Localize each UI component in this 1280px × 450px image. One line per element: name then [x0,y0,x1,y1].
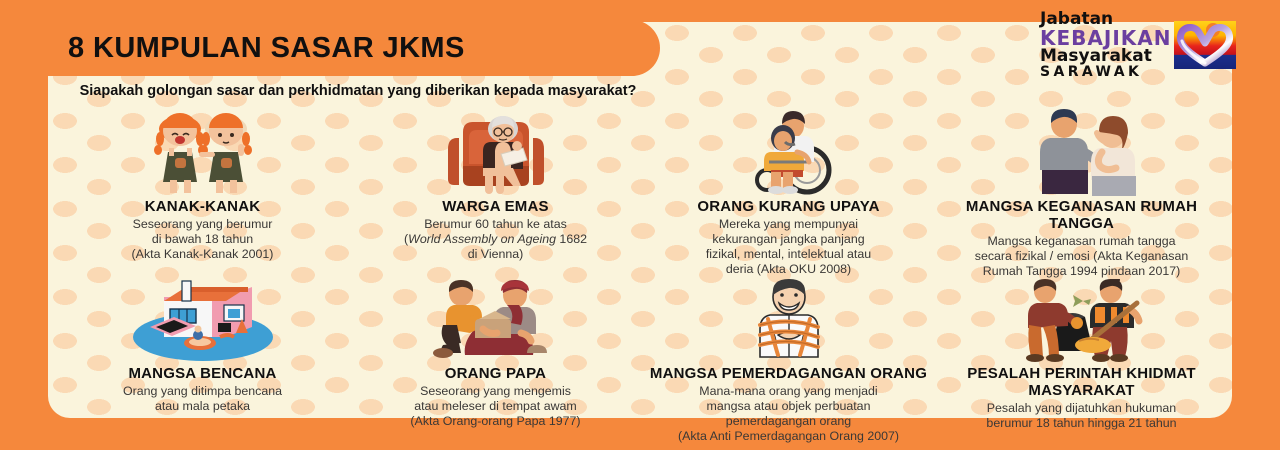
card-mangsa-keganasan-rumah-tangga: MANGSA KEGANASAN RUMAH TANGGA Mangsa keg… [935,108,1228,279]
desc-line: Pesalah yang dijatuhkan hukuman [986,401,1176,416]
desc-year: 1682 [556,232,587,246]
card-description: Seseorang yang mengemis atau meleser di … [410,384,580,429]
desc-line: Mana-mana orang yang menjadi [678,384,899,399]
desc-line: Orang yang ditimpa bencana [123,384,282,399]
card-description: Mangsa keganasan rumah tangga secara fiz… [975,234,1189,279]
infographic-poster: 8 KUMPULAN SASAR JKMS Jabatan KEBAJIKAN … [0,0,1280,450]
flooded-house-icon [128,279,278,363]
page-subtitle: Siapakah golongan sasar dan perkhidmatan… [68,82,648,102]
card-title: WARGA EMAS [442,199,548,216]
desc-line: di Vienna) [404,247,587,262]
card-kanak-kanak: KANAK-KANAK Seseorang yang berumur di ba… [56,108,349,279]
desc-line: atau meleser di tempat awam [410,399,580,414]
desc-line: secara fizikal / emosi (Akta Keganasan [975,249,1189,264]
card-description: Mana-mana orang yang menjadi mangsa atau… [678,384,899,445]
card-description: Seseorang yang berumur di bawah 18 tahun… [132,217,274,262]
logo-line-kebajikan: KEBAJIKAN [1040,28,1171,48]
desc-line: Berumur 60 tahun ke atas [404,217,587,232]
logo-wordmark: Jabatan KEBAJIKAN Masyarakat SARAWAK [1040,11,1174,79]
elderly-in-armchair-icon [441,108,551,196]
title-banner: 8 KUMPULAN SASAR JKMS [0,20,660,76]
desc-line: mangsa atau objek perbuatan [678,399,899,414]
card-mangsa-pemerdagangan-orang: MANGSA PEMERDAGANGAN ORANG Mana-mana ora… [642,279,935,444]
card-orang-kurang-upaya: ORANG KURANG UPAYA Mereka yang mempunyai… [642,108,935,279]
desc-line: fizikal, mental, intelektual atau [706,247,871,262]
card-title: MANGSA PEMERDAGANGAN ORANG [650,366,927,383]
card-description: Mereka yang mempunyai kekurangan jangka … [706,217,871,278]
card-pesalah-perintah-khidmat-masyarakat: PESALAH PERINTAH KHIDMAT MASYARAKAT Pesa… [935,279,1228,444]
jkms-logo: Jabatan KEBAJIKAN Masyarakat SARAWAK [1040,12,1258,78]
desc-line: Rumah Tangga 1994 pindaan 2017) [975,264,1189,279]
page-title: 8 KUMPULAN SASAR JKMS [68,32,465,65]
logo-line-masyarakat: Masyarakat [1040,48,1171,65]
desc-line: Seseorang yang berumur [132,217,274,232]
community-service-cleanup-icon [1007,279,1157,363]
card-mangsa-bencana: MANGSA BENCANA Orang yang ditimpa bencan… [56,279,349,444]
heart-emblem-icon [1172,17,1238,73]
desc-line: kekurangan jangka panjang [706,232,871,247]
card-title: PESALAH PERINTAH KHIDMAT MASYARAKAT [941,366,1222,400]
desc-line: (World Assembly on Ageing 1682 [404,232,587,247]
card-title: MANGSA KEGANASAN RUMAH TANGGA [941,199,1222,233]
desc-line: (Akta Orang-orang Papa 1977) [410,414,580,429]
desc-line: Mereka yang mempunyai [706,217,871,232]
giving-to-homeless-icon [421,279,571,363]
desc-line: (Akta Kanak-Kanak 2001) [132,247,274,262]
bound-person-icon [734,279,844,363]
domestic-violence-icon [1022,108,1142,196]
card-warga-emas: WARGA EMAS Berumur 60 tahun ke atas (Wor… [349,108,642,279]
card-description: Berumur 60 tahun ke atas (World Assembly… [404,217,587,262]
desc-line: di bawah 18 tahun [132,232,274,247]
card-title: ORANG KURANG UPAYA [697,199,879,216]
card-description: Pesalah yang dijatuhkan hukuman berumur … [986,401,1176,431]
desc-line: Mangsa keganasan rumah tangga [975,234,1189,249]
card-title: ORANG PAPA [445,366,546,383]
desc-line: berumur 18 tahun hingga 21 tahun [986,416,1176,431]
desc-line: atau mala petaka [123,399,282,414]
card-orang-papa: ORANG PAPA Seseorang yang mengemis atau … [349,279,642,444]
desc-line: (Akta Anti Pemerdagangan Orang 2007) [678,429,899,444]
desc-line: Seseorang yang mengemis [410,384,580,399]
card-description: Orang yang ditimpa bencana atau mala pet… [123,384,282,414]
desc-italic-source: World Assembly on Ageing [408,232,556,246]
wheelchair-user-icon [735,108,843,196]
two-children-icon [144,108,262,196]
card-title: KANAK-KANAK [145,199,261,216]
desc-line: pemerdagangan orang [678,414,899,429]
desc-line: deria (Akta OKU 2008) [706,262,871,277]
target-groups-grid: KANAK-KANAK Seseorang yang berumur di ba… [56,108,1228,428]
card-title: MANGSA BENCANA [128,366,276,383]
logo-line-sarawak: SARAWAK [1040,65,1171,79]
